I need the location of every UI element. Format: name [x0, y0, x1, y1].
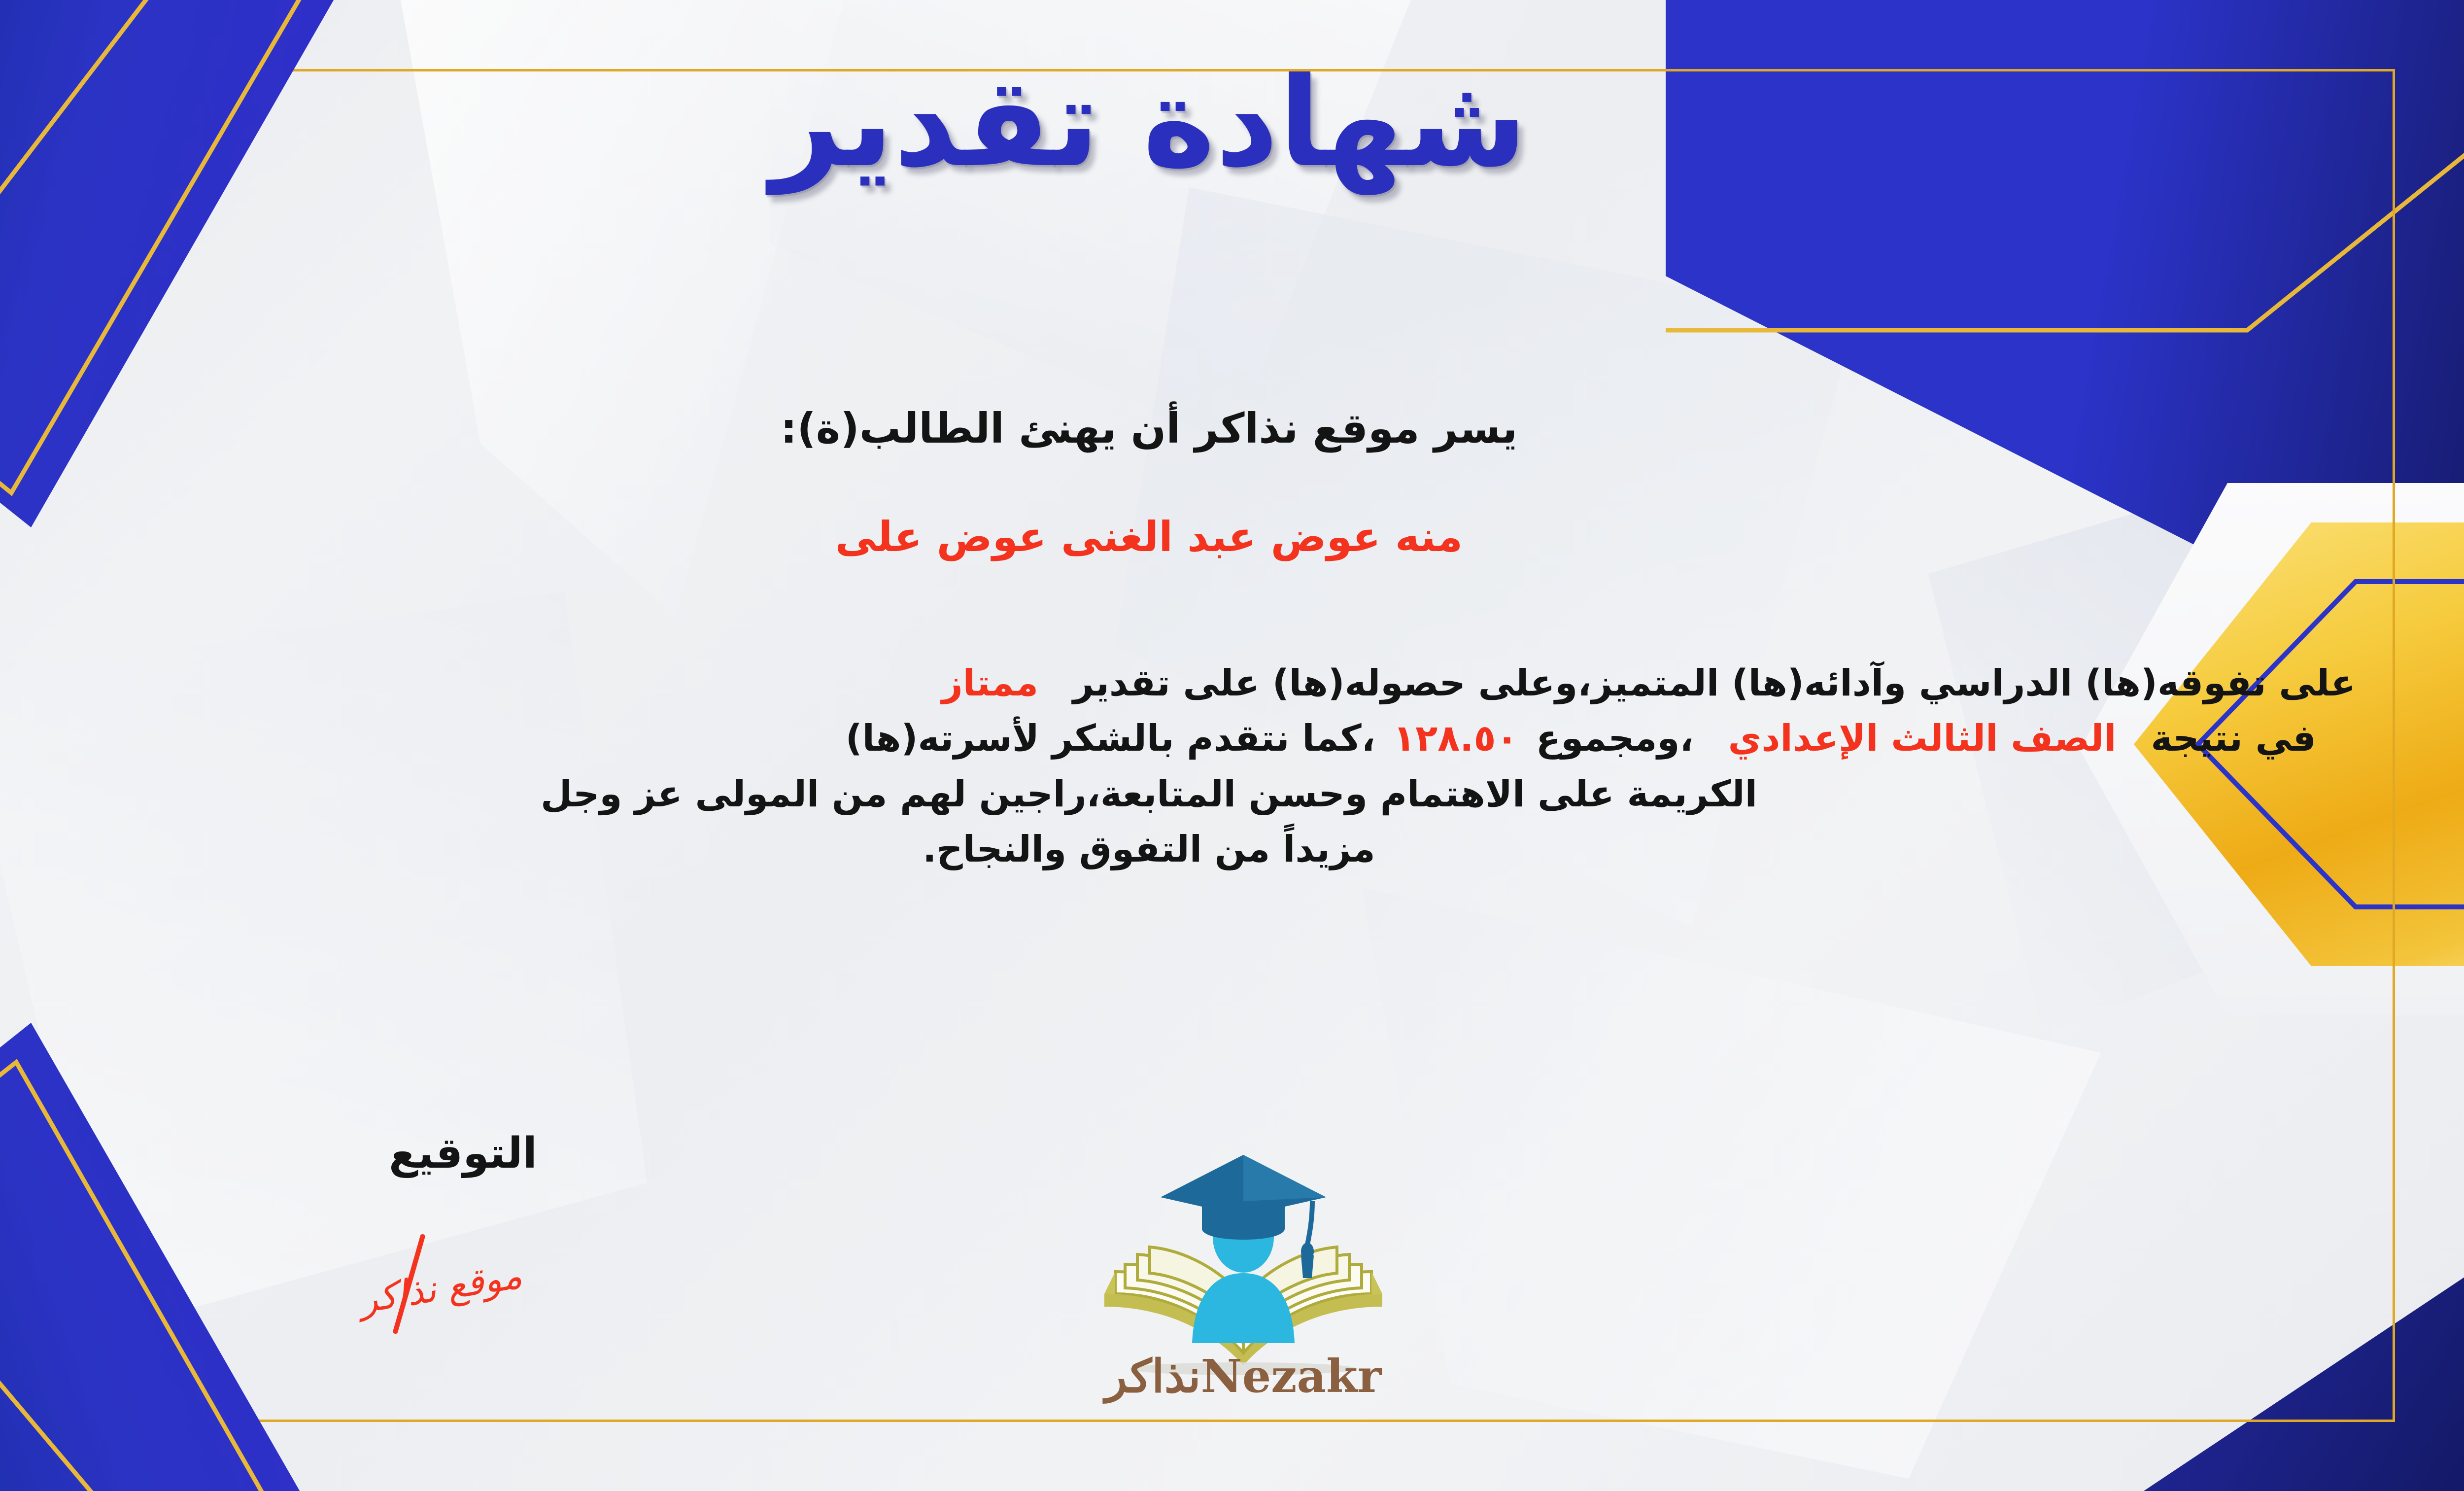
- certificate-canvas: شهادة تقدير يسر موقع نذاكر أن يهنئ الطال…: [0, 0, 2464, 1491]
- body-line-3: الكريمة على الاهتمام وحسن المتابعة،راجين…: [0, 766, 2375, 822]
- signature-handwriting: موقع نذاكر: [356, 1254, 525, 1322]
- logo-wordmark: Nezakrنذاكر: [1056, 1350, 1431, 1403]
- total-value: ١٢٨.٥٠: [1393, 717, 1518, 760]
- body-line-2-mid: ،ومجموع: [1536, 717, 1694, 760]
- logo-name-latin: Nezakr: [1201, 1350, 1382, 1403]
- signature-label: التوقيع: [389, 1129, 537, 1178]
- certificate-body: على تفوقه(ها) الدراسي وآدائه(ها) المتميز…: [0, 656, 2375, 877]
- body-line-2-prefix: في نتيجة: [2151, 717, 2317, 760]
- body-line-2: في نتيجةالصف الثالث الإعدادي،ومجموع١٢٨.٥…: [0, 711, 2375, 766]
- greeting-line: يسر موقع نذاكر أن يهنئ الطالب(ة):: [0, 404, 2375, 453]
- student-name: منه عوض عبد الغنى عوض على: [0, 513, 2375, 561]
- nezakr-logo: Nezakrنذاكر: [1056, 1124, 1431, 1400]
- grade-value: ممتاز: [942, 662, 1038, 704]
- certificate-content: شهادة تقدير يسر موقع نذاكر أن يهنئ الطال…: [0, 0, 2375, 1491]
- certificate-title: شهادة تقدير: [0, 52, 2375, 194]
- body-line-1: على تفوقه(ها) الدراسي وآدائه(ها) المتميز…: [0, 656, 2375, 711]
- body-line-1-text: على تفوقه(ها) الدراسي وآدائه(ها) المتميز…: [1073, 662, 2356, 704]
- class-value: الصف الثالث الإعدادي: [1728, 717, 2117, 760]
- body-line-2-suffix: ،كما نتقدم بالشكر لأسرته(ها): [846, 717, 1375, 760]
- body-line-4: مزيداً من التفوق والنجاح.: [0, 822, 2375, 877]
- logo-name-arabic: نذاكر: [1105, 1350, 1201, 1403]
